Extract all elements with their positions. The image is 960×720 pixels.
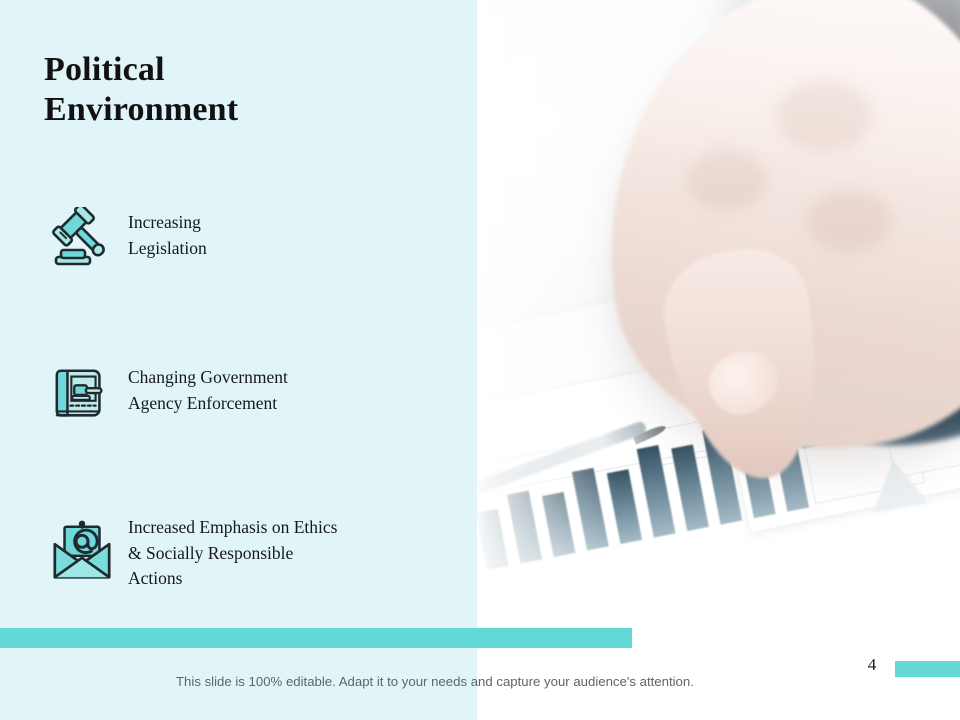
list-item-text: Changing Government Agency Enforcement <box>128 355 288 416</box>
list-item-line-2: Legislation <box>128 236 207 262</box>
photo-knuckle <box>807 190 892 252</box>
list-item-line-1: Increasing <box>128 210 207 236</box>
envelope-at-icon <box>44 512 120 590</box>
gavel-icon <box>44 200 120 278</box>
photo-bar <box>671 444 709 531</box>
page-number-accent-bar <box>895 661 960 677</box>
page-number: 4 <box>860 655 884 675</box>
photo-bar <box>607 469 642 544</box>
list-item-line-3: Actions <box>128 566 337 592</box>
photo-bar <box>542 492 575 557</box>
list-item-line-2: Agency Enforcement <box>128 391 288 417</box>
hero-photo <box>477 0 960 628</box>
law-book-gavel-icon <box>44 355 120 433</box>
list-item-line-1: Increased Emphasis on Ethics <box>128 515 337 541</box>
list-item[interactable]: Increasing Legislation <box>44 200 444 278</box>
photo-bar <box>507 491 542 564</box>
list-item-text: Increased Emphasis on Ethics & Socially … <box>128 512 337 592</box>
accent-bar-bottom <box>0 628 632 648</box>
photo-pie-wedge <box>865 456 928 513</box>
list-item[interactable]: Changing Government Agency Enforcement <box>44 355 444 433</box>
photo-bar <box>572 468 609 551</box>
page-title-line-1: Political <box>44 50 444 90</box>
slide-root: Political Environment Increasing Legisla… <box>0 0 960 720</box>
list-item-line-2: & Socially Responsible <box>128 541 337 567</box>
list-item-line-1: Changing Government <box>128 365 288 391</box>
photo-knuckle <box>777 80 872 150</box>
footer-note: This slide is 100% editable. Adapt it to… <box>176 674 876 689</box>
list-item-text: Increasing Legislation <box>128 200 207 261</box>
photo-knuckle <box>687 150 767 210</box>
photo-bar <box>637 445 676 538</box>
page-title: Political Environment <box>44 50 444 130</box>
page-title-line-2: Environment <box>44 90 444 130</box>
list-item[interactable]: Increased Emphasis on Ethics & Socially … <box>44 512 444 592</box>
